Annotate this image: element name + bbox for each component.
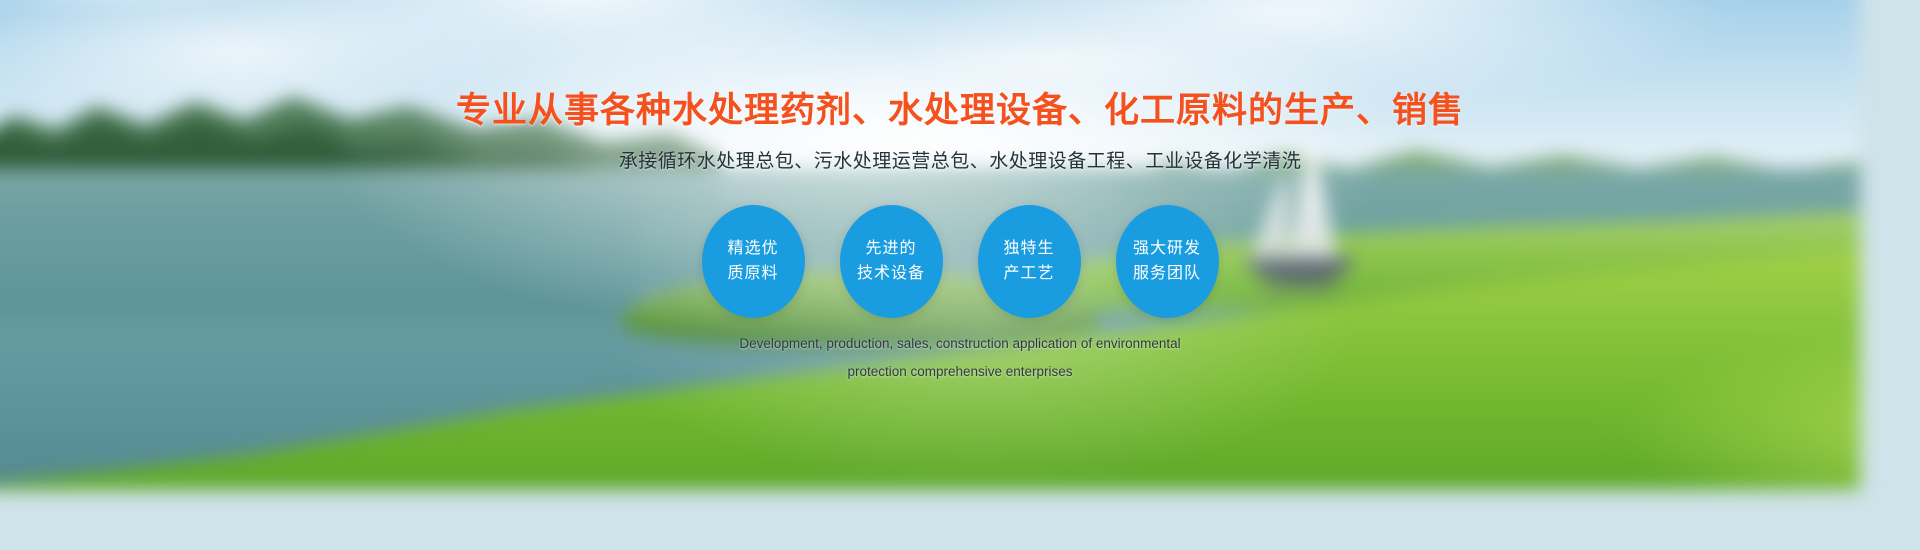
feature-circle-3-line2: 产工艺 xyxy=(1003,262,1054,287)
hero-banner: 专业从事各种水处理药剂、水处理设备、化工原料的生产、销售 承接循环水处理总包、污… xyxy=(0,0,1920,550)
feature-circle-1-line1: 精选优 xyxy=(727,237,778,262)
english-tagline: Development, production, sales, construc… xyxy=(0,330,1920,386)
feature-circle-4-line2: 服务团队 xyxy=(1133,262,1201,287)
feature-circle-2-line2: 技术设备 xyxy=(857,262,925,287)
feature-circle-3[interactable]: 独特生 产工艺 xyxy=(978,205,1081,318)
banner-subheadline: 承接循环水处理总包、污水处理运营总包、水处理设备工程、工业设备化学清洗 xyxy=(0,146,1920,173)
feature-circle-4-line1: 强大研发 xyxy=(1133,237,1201,262)
banner-content: 专业从事各种水处理药剂、水处理设备、化工原料的生产、销售 承接循环水处理总包、污… xyxy=(0,0,1920,550)
feature-circle-2-line1: 先进的 xyxy=(865,237,916,262)
feature-circle-group: 精选优 质原料 先进的 技术设备 独特生 产工艺 强大研发 服务团队 xyxy=(0,205,1920,318)
feature-circle-3-line1: 独特生 xyxy=(1003,237,1054,262)
banner-headline: 专业从事各种水处理药剂、水处理设备、化工原料的生产、销售 xyxy=(0,82,1920,133)
feature-circle-1-line2: 质原料 xyxy=(727,262,778,287)
english-tagline-line2: protection comprehensive enterprises xyxy=(0,358,1920,386)
english-tagline-line1: Development, production, sales, construc… xyxy=(0,330,1920,358)
feature-circle-2[interactable]: 先进的 技术设备 xyxy=(840,205,943,318)
feature-circle-1[interactable]: 精选优 质原料 xyxy=(702,205,805,318)
feature-circle-4[interactable]: 强大研发 服务团队 xyxy=(1116,205,1219,318)
